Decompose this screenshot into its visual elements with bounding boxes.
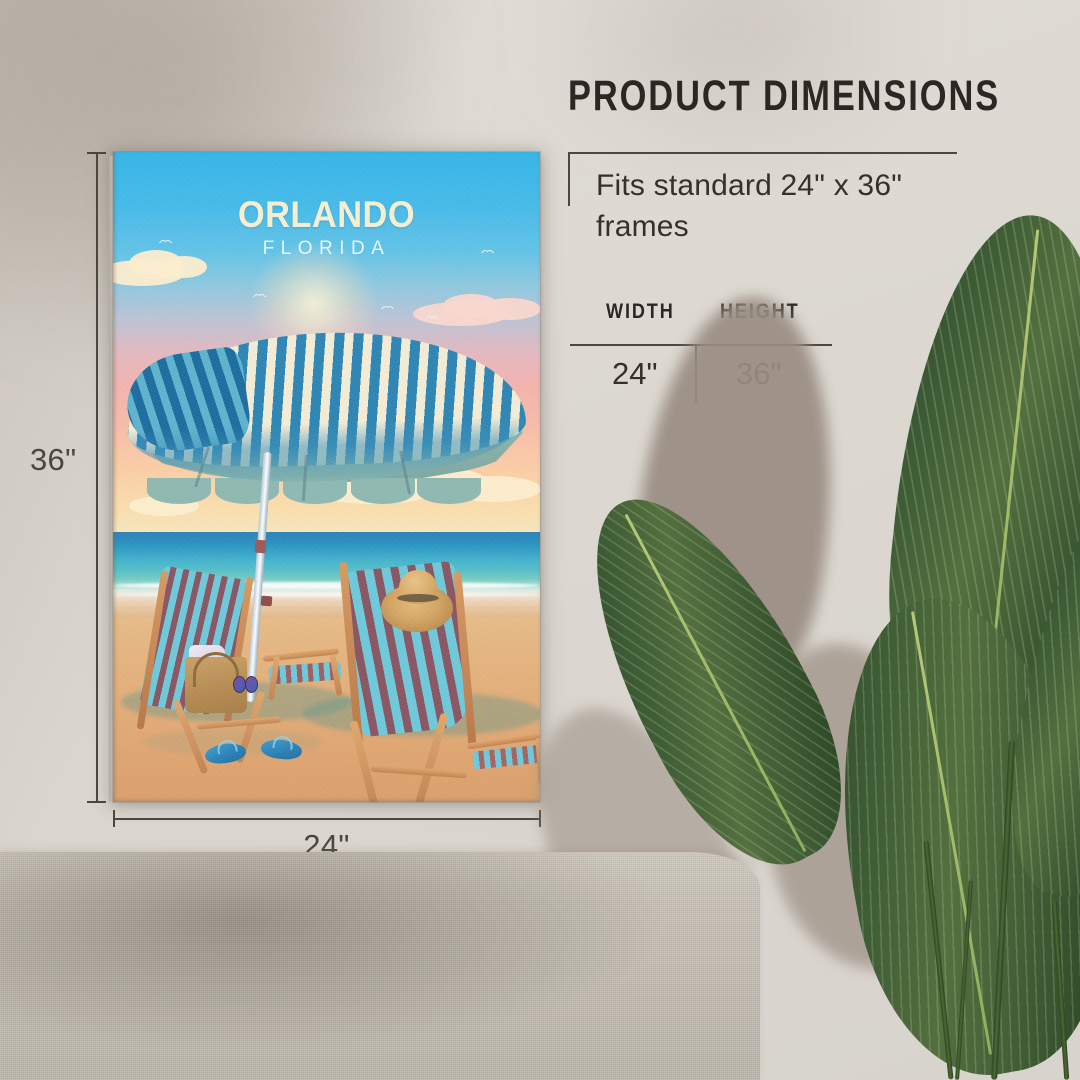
umbrella-pole-band	[255, 540, 267, 554]
bracket-vertical-stub	[568, 152, 570, 206]
umbrella-scallop	[147, 478, 211, 504]
bracket-horizontal-rule	[568, 152, 957, 154]
beach-umbrella	[117, 327, 537, 512]
height-dimension-line	[96, 152, 98, 802]
poster-title: ORLANDO	[128, 194, 525, 236]
deck-chair-left-frame	[197, 716, 281, 729]
straw-hat-band	[397, 594, 439, 602]
height-dimension-cap-top	[87, 152, 106, 154]
straw-hat	[381, 570, 453, 632]
column-header-width: WIDTH	[606, 300, 675, 324]
column-header-height: HEIGHT	[720, 300, 800, 324]
height-dimension-cap-bottom	[87, 801, 106, 803]
poster-subtitle: FLORIDA	[113, 238, 540, 260]
deck-chair-right-frame	[371, 765, 467, 779]
poster-artwork[interactable]: ORLANDO FLORIDA	[113, 152, 540, 802]
cell-height-value: 36"	[736, 356, 782, 392]
table-column-divider	[695, 345, 697, 403]
dimensions-table-header-row: WIDTH HEIGHT	[568, 300, 834, 334]
product-dimensions-infographic: ORLANDO FLORIDA	[0, 0, 1080, 1080]
height-dimension-label: 36"	[30, 442, 76, 478]
width-dimension-cap-left	[113, 810, 115, 827]
cell-width-value: 24"	[612, 356, 658, 392]
seagull-icon	[381, 304, 394, 311]
seagull-icon	[253, 292, 266, 299]
umbrella-scallop	[417, 478, 481, 504]
umbrella-scallop	[283, 478, 347, 504]
page-title: PRODUCT DIMENSIONS	[568, 72, 1000, 121]
seagull-icon	[425, 314, 438, 321]
width-dimension-cap-right	[539, 810, 541, 827]
sunglasses	[233, 676, 258, 693]
cloud	[479, 298, 540, 320]
width-dimension-line	[113, 818, 540, 820]
sunglasses-right-lens	[245, 676, 258, 693]
sofa-back	[0, 852, 760, 1080]
fits-standard-note: Fits standard 24" x 36" frames	[596, 166, 964, 248]
table-header-rule	[570, 344, 832, 346]
